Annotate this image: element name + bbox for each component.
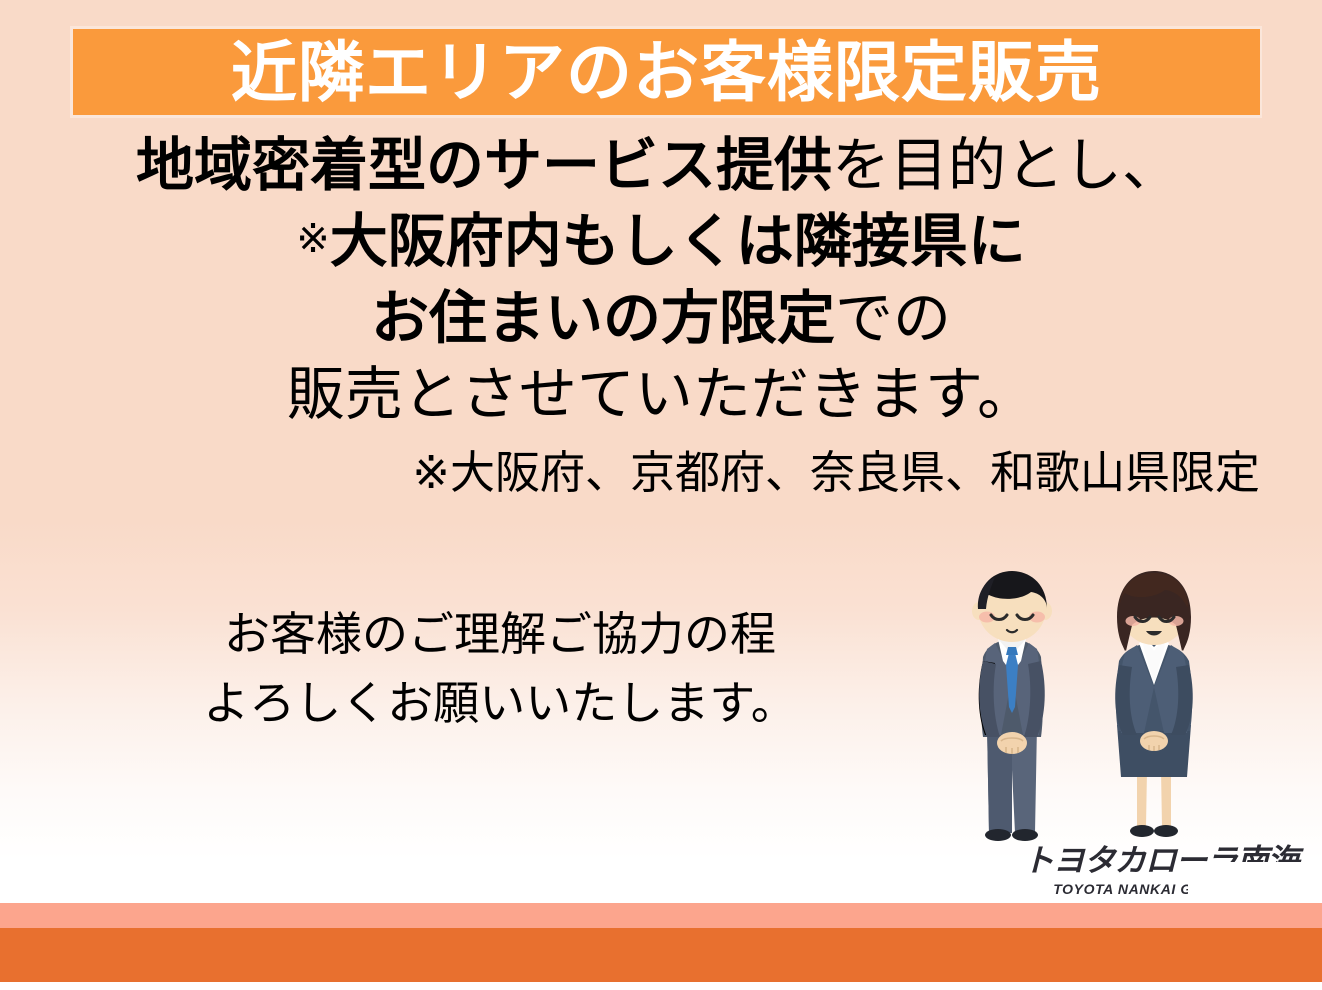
message-line-1: 地域密着型のサービス提供を目的とし、 bbox=[0, 132, 1322, 200]
footer-dark-band bbox=[0, 928, 1322, 982]
message-line-4: 販売とさせていただきます。 bbox=[0, 361, 1322, 429]
businesswoman-figure bbox=[1115, 571, 1193, 837]
message-line-2-bold: 大阪府内もしくは隣接県に bbox=[330, 209, 1026, 274]
bowing-business-people-illustration bbox=[965, 565, 1255, 855]
message-line-3-regular: での bbox=[835, 286, 951, 351]
message-line-2: ※大阪府内もしくは隣接県に bbox=[0, 208, 1322, 276]
message-line-1-bold: 地域密着型のサービス提供 bbox=[136, 133, 832, 198]
message-line-1-regular: を目的とし、 bbox=[832, 133, 1180, 198]
prefecture-note: ※大阪府、京都府、奈良県、和歌山県限定 bbox=[0, 446, 1322, 499]
footer-bottom-edge bbox=[0, 982, 1322, 990]
logo-white-backdrop bbox=[1188, 862, 1322, 903]
message-line-4-regular: 販売とさせていただきます。 bbox=[287, 362, 1035, 427]
closing-message-block: お客様のご理解ご協力の程 よろしくお願いいたします。 bbox=[0, 600, 1000, 738]
header-banner-title: 近隣エリアのお客様限定販売 bbox=[73, 29, 1260, 115]
closing-line-2: よろしくお願いいたします。 bbox=[0, 669, 1000, 738]
message-line-3: お住まいの方限定での bbox=[0, 285, 1322, 353]
businessman-figure bbox=[972, 571, 1052, 841]
reference-mark-icon: ※ bbox=[296, 217, 330, 261]
footer-light-band bbox=[0, 903, 1322, 928]
poster-canvas: 近隣エリアのお客様限定販売 地域密着型のサービス提供を目的とし、 ※大阪府内もし… bbox=[0, 0, 1322, 990]
main-message-block: 地域密着型のサービス提供を目的とし、 ※大阪府内もしくは隣接県に お住まいの方限… bbox=[0, 132, 1322, 499]
message-line-3-bold: お住まいの方限定 bbox=[371, 286, 835, 351]
closing-line-1: お客様のご理解ご協力の程 bbox=[0, 600, 1000, 669]
